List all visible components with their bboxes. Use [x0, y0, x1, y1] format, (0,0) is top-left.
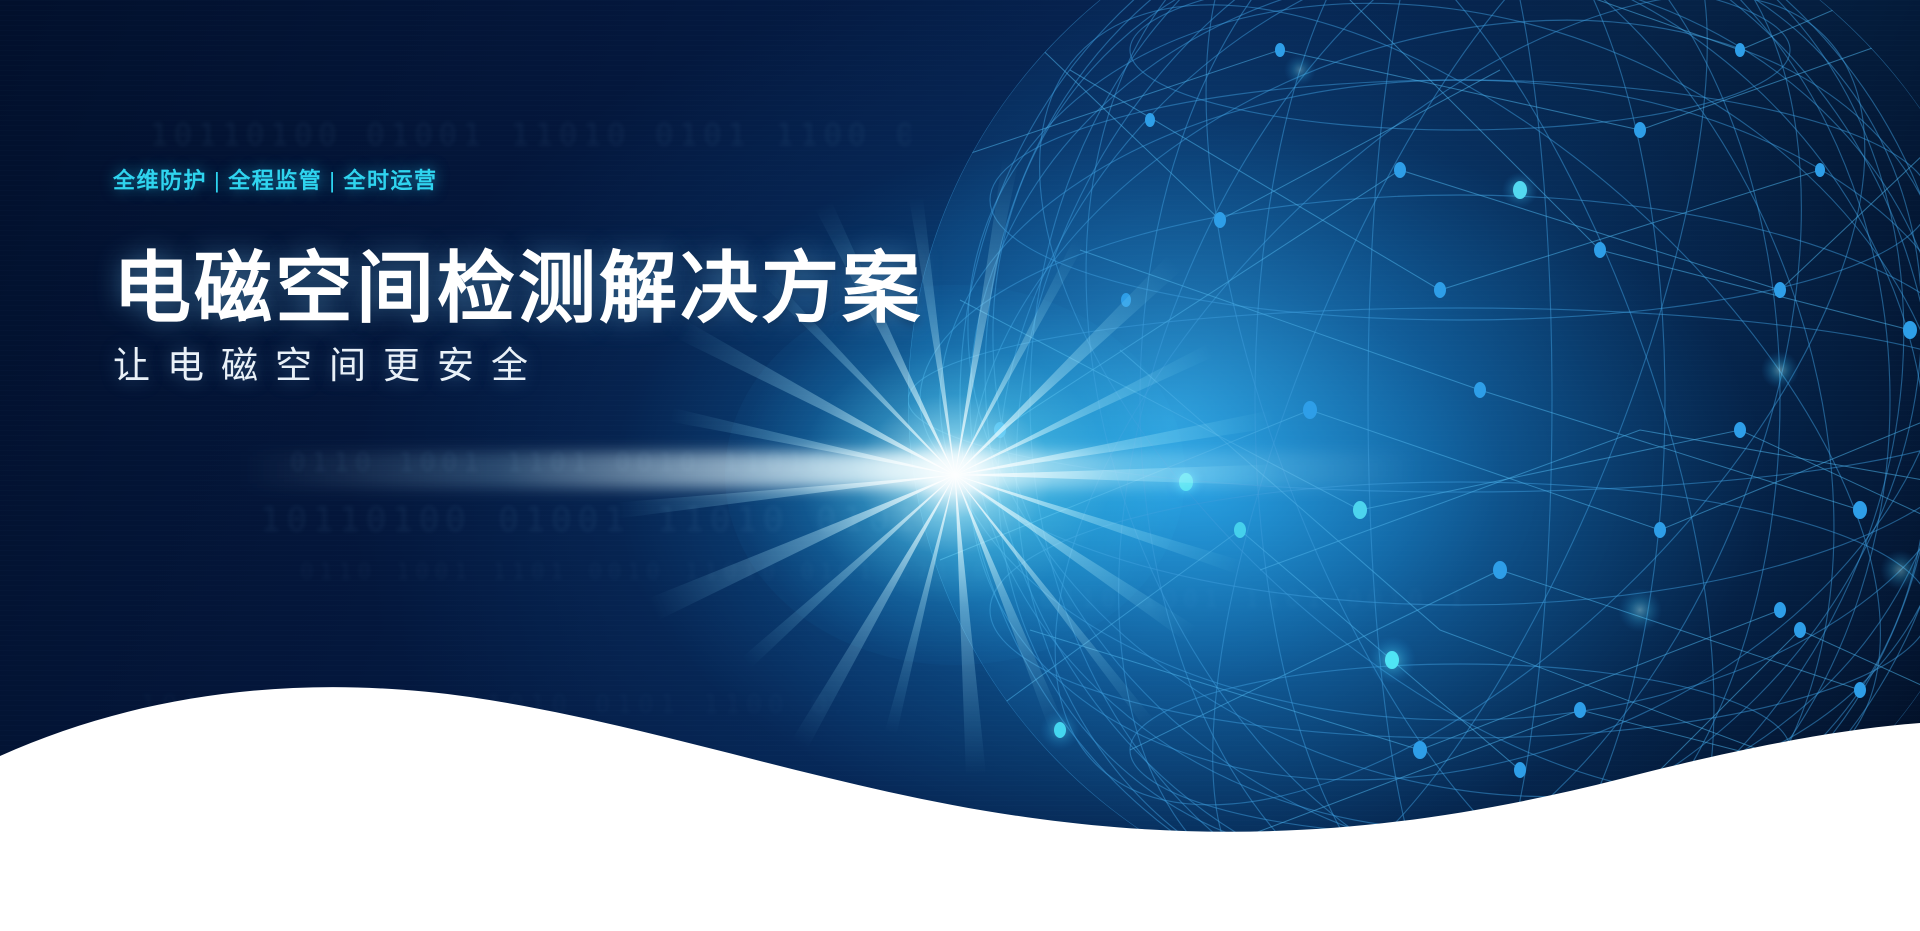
tagline-separator: |	[207, 168, 228, 193]
hero-subtitle: 让电磁空间更安全	[113, 346, 923, 387]
hero-tagline: 全维防护|全程监管|全时运营	[113, 170, 923, 192]
hero-banner: 10110100 01001 11010 0101 1100 0110101 2…	[0, 0, 1920, 931]
code-texture-strip: 10110100 01001 11010 0101 1100 0110101 2…	[150, 118, 910, 153]
code-texture-strip: 10110100 01001 11010 0101 1100 0110101 2…	[140, 690, 840, 720]
tagline-part-2: 全程监管	[228, 168, 322, 193]
code-texture-strip: 0110 1001 1101 0010 11010 0101 27100	[1040, 585, 1460, 613]
tagline-part-1: 全维防护	[113, 168, 207, 193]
code-texture-strip: 0110 1001 1101 0010 11010 0101 27100	[300, 560, 1020, 585]
code-texture-strip: 10110100 01001 11010 0101 1100 0110101 2…	[260, 500, 1020, 540]
hero-title: 电磁空间检测解决方案	[113, 246, 923, 330]
tagline-separator: |	[322, 168, 343, 193]
code-texture-strip: 0110 1001 1101 0010 11010 0101 27100	[290, 448, 1110, 478]
hero-text-block: 全维防护|全程监管|全时运营 电磁空间检测解决方案 让电磁空间更安全	[113, 170, 923, 387]
tagline-part-3: 全时运营	[343, 168, 437, 193]
